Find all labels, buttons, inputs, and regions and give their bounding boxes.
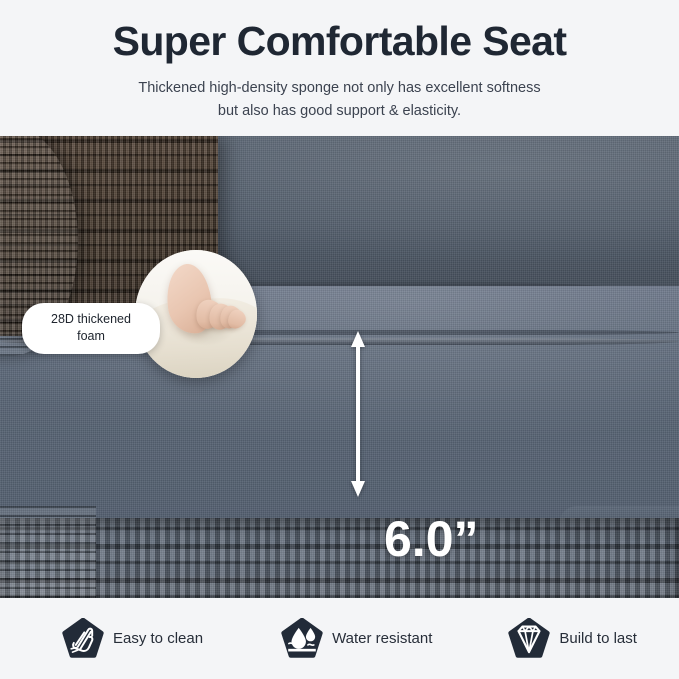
subtitle: Thickened high-density sponge not only h… (0, 67, 679, 122)
diamond-icon (508, 618, 550, 660)
feature-label: Easy to clean (113, 630, 203, 647)
double-headed-vertical-arrow-icon (349, 331, 367, 497)
foam-callout-line-2: foam (77, 329, 105, 343)
wicker-base (0, 518, 679, 598)
cleaning-hand-icon (62, 618, 104, 660)
hand-pressing-foam (162, 258, 247, 355)
feature-build-to-last: Build to last (508, 618, 637, 660)
height-measurement-arrow (349, 331, 367, 497)
subtitle-line-2: but also has good support & elasticity. (0, 100, 679, 122)
feature-bar: Easy to clean Water resistant Build to (0, 598, 679, 679)
page-title: Super Comfortable Seat (0, 0, 679, 67)
seat-height-value: 6.0” (384, 514, 479, 564)
feature-easy-to-clean: Easy to clean (62, 618, 203, 660)
feature-label: Build to last (559, 630, 637, 647)
water-droplet-icon (281, 618, 323, 660)
feature-label: Water resistant (332, 630, 432, 647)
product-infographic: Super Comfortable Seat Thickened high-de… (0, 0, 679, 679)
foam-callout-line-1: 28D thickened (51, 312, 131, 326)
wicker-base-left-leg (0, 506, 96, 598)
foam-callout-label: 28D thickened foam (22, 303, 160, 354)
feature-water-resistant: Water resistant (281, 618, 432, 660)
subtitle-line-1: Thickened high-density sponge not only h… (0, 77, 679, 99)
header-section: Super Comfortable Seat Thickened high-de… (0, 0, 679, 136)
product-photo: 28D thickened foam 6.0” (0, 136, 679, 598)
